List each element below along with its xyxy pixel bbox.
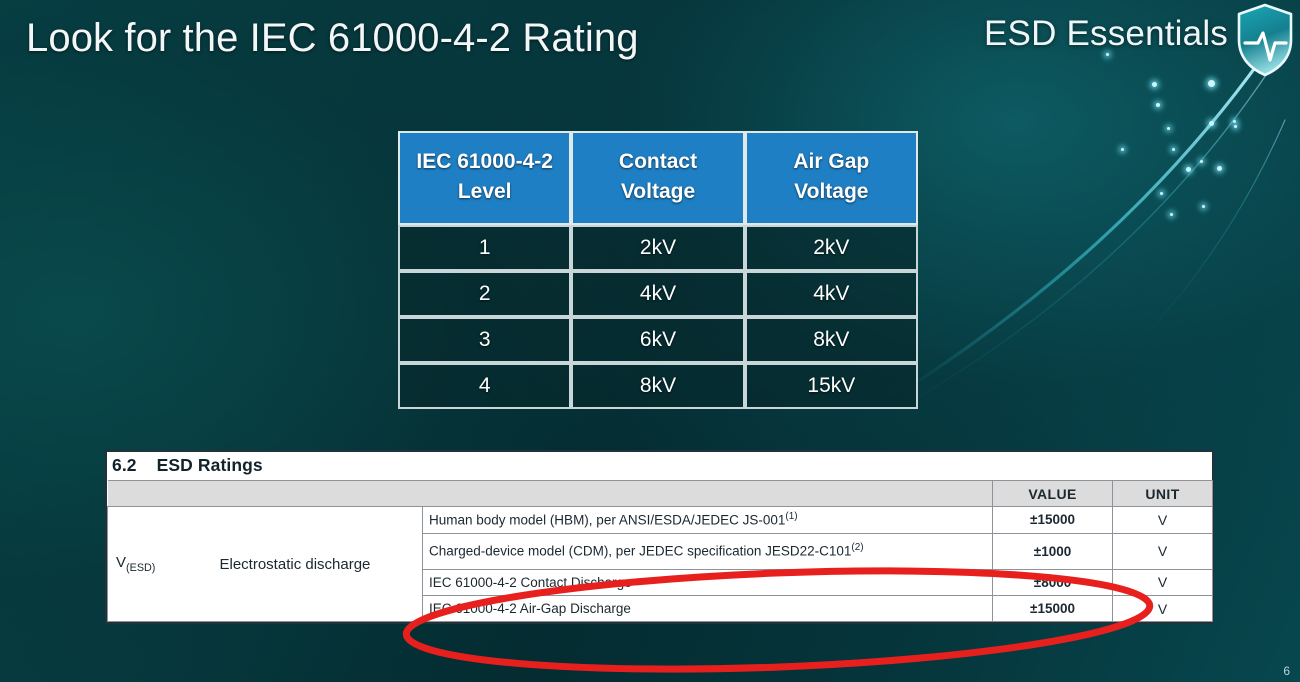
unit-cell: V [1113,569,1213,595]
datasheet-header-value: VALUE [993,481,1113,507]
level-cell: 4 [398,363,571,409]
brand-label: ESD Essentials [984,14,1228,54]
slide-title: Look for the IEC 61000-4-2 Rating [26,16,639,61]
condition-text: Charged-device model (CDM), per JEDEC sp… [429,544,851,559]
value-cell: ±8000 [993,569,1113,595]
condition-cell: Human body model (HBM), per ANSI/ESDA/JE… [423,507,993,534]
footnote-marker: (1) [785,511,797,522]
contact-cell: 2kV [571,225,744,271]
airgap-cell: 4kV [745,271,918,317]
level-table-header-contact: Contact Voltage [571,131,744,225]
sparkle-dot [1209,121,1214,126]
symbol-subscript: (ESD) [126,562,155,574]
table-row: V(ESD) Electrostatic discharge Human bod… [108,507,1213,534]
datasheet-excerpt: 6.2ESD Ratings VALUE UNIT V(ESD) Electro… [105,450,1214,624]
header-airgap-line2: Voltage [794,180,868,203]
contact-cell: 6kV [571,317,744,363]
unit-cell: V [1113,596,1213,622]
level-table-header-row: IEC 61000-4-2 Level Contact Voltage Air … [398,131,918,225]
sparkle-dot [1200,160,1203,163]
sparkle-dot [1160,192,1163,195]
airgap-cell: 2kV [745,225,918,271]
contact-cell: 8kV [571,363,744,409]
condition-cell: IEC 61000-4-2 Contact Discharge [423,569,993,595]
sparkle-dot [1233,120,1236,123]
slide-canvas: Look for the IEC 61000-4-2 Rating ESD Es… [0,0,1300,682]
esd-ratings-table: VALUE UNIT V(ESD) Electrostatic discharg… [107,480,1213,622]
level-table-header-airgap: Air Gap Voltage [745,131,918,225]
condition-cell: IEC 61000-4-2 Air-Gap Discharge [423,596,993,622]
unit-cell: V [1113,507,1213,534]
sparkle-dot [1121,148,1124,151]
table-row: 3 6kV 8kV [398,317,918,363]
condition-text: Human body model (HBM), per ANSI/ESDA/JE… [429,513,785,528]
level-table-header-level: IEC 61000-4-2 Level [398,131,571,225]
section-number: 6.2 [112,455,137,475]
header-airgap-line1: Air Gap [793,150,869,173]
sparkle-dot [1208,80,1215,87]
table-row: 1 2kV 2kV [398,225,918,271]
contact-cell: 4kV [571,271,744,317]
section-title: ESD Ratings [157,455,263,475]
sparkle-dot [1156,103,1160,107]
condition-cell: Charged-device model (CDM), per JEDEC sp… [423,533,993,569]
parameter-cell: Electrostatic discharge [216,507,423,622]
footnote-marker: (2) [851,542,863,553]
symbol-text: V [116,554,126,571]
value-cell: ±15000 [993,507,1113,534]
sparkle-dot [1234,125,1237,128]
datasheet-header-blank [108,481,993,507]
unit-cell: V [1113,533,1213,569]
airgap-cell: 15kV [745,363,918,409]
value-cell: ±15000 [993,596,1113,622]
sparkle-dot [1202,205,1205,208]
level-cell: 1 [398,225,571,271]
sparkle-dot [1152,82,1157,87]
header-contact-line2: Voltage [621,180,695,203]
level-cell: 2 [398,271,571,317]
shield-pulse-icon [1234,2,1296,78]
sparkle-dot [1167,127,1170,130]
table-row: 2 4kV 4kV [398,271,918,317]
datasheet-section-heading: 6.2ESD Ratings [107,452,1212,480]
iec-level-table: IEC 61000-4-2 Level Contact Voltage Air … [398,131,918,409]
sparkle-dot [1170,213,1173,216]
page-number: 6 [1283,664,1290,678]
sparkle-dot [1217,166,1222,171]
header-level-line2: Level [458,180,512,203]
value-cell: ±1000 [993,533,1113,569]
airgap-cell: 8kV [745,317,918,363]
sparkle-dot [1172,148,1175,151]
level-cell: 3 [398,317,571,363]
header-contact-line1: Contact [619,150,697,173]
sparkle-dot [1186,167,1191,172]
datasheet-header-unit: UNIT [1113,481,1213,507]
header-level-line1: IEC 61000-4-2 [416,150,553,173]
datasheet-header-row: VALUE UNIT [108,481,1213,507]
table-row: 4 8kV 15kV [398,363,918,409]
symbol-cell: V(ESD) [108,507,216,622]
